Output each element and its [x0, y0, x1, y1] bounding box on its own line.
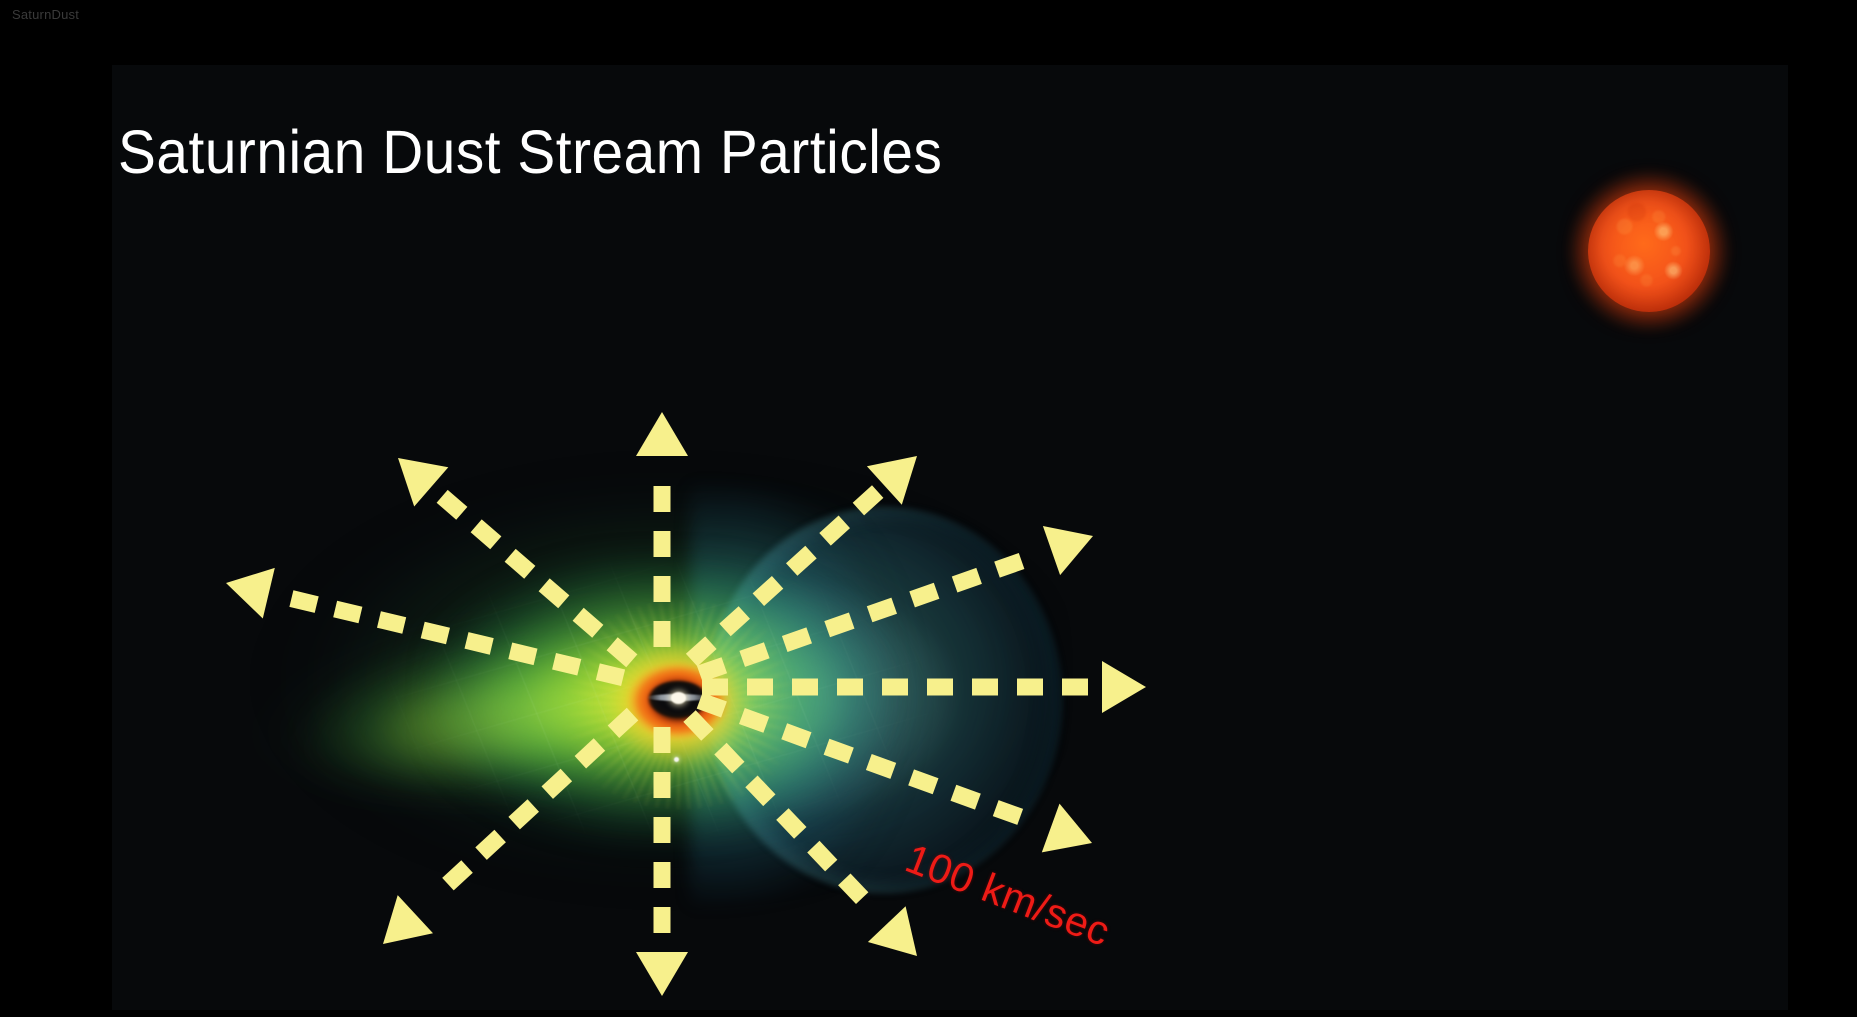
arrow-dash [654, 817, 671, 843]
arrow-dash [781, 723, 811, 748]
arrow-dash [951, 785, 981, 810]
arrow-dash [952, 568, 982, 593]
arrow-dash [654, 727, 671, 753]
arrow-dash [745, 776, 775, 807]
arrow-dash [824, 613, 854, 638]
arrow-dash [552, 653, 581, 676]
arrow-dash [786, 546, 817, 576]
arrow-dash [654, 576, 671, 602]
arrow-dash [837, 679, 863, 696]
arrow-head [636, 412, 688, 456]
arrow-dash [1017, 679, 1043, 696]
arrow-dash [442, 860, 473, 890]
arrow-dash [654, 772, 671, 798]
arrow-dash [508, 643, 537, 666]
arrow-head [636, 952, 688, 996]
arrow-dash [993, 800, 1023, 825]
arrow-dash [994, 553, 1024, 578]
arrow-down [636, 727, 688, 996]
arrow-dash [573, 608, 604, 638]
arrow-dash [539, 578, 570, 608]
arrow-dash [421, 622, 450, 645]
arrow-dash [782, 627, 812, 652]
arrow-head [868, 906, 917, 956]
arrow-head [1043, 526, 1093, 575]
arrow-dash [437, 490, 468, 520]
arrow-down-left [383, 708, 638, 944]
arrow-dash [333, 601, 362, 624]
arrow-dash [972, 679, 998, 696]
arrow-dash [697, 693, 727, 718]
arrow-dash [289, 590, 318, 613]
arrow-dash [719, 606, 750, 636]
arrow-dash [607, 637, 638, 667]
arrow-right-upper [697, 526, 1093, 682]
arrow-dash [475, 830, 506, 860]
arrow-dash [739, 708, 769, 733]
arrow-dash [909, 583, 939, 608]
arrow-right-lower [697, 693, 1092, 853]
arrow-dash [792, 679, 818, 696]
arrow-dash [702, 679, 728, 696]
arrow-dash [807, 841, 837, 872]
arrow-dash [596, 663, 625, 686]
arrow-dash [824, 739, 854, 764]
arrow-dash [575, 738, 606, 768]
arrow-dash [867, 598, 897, 623]
arrow-dash [866, 754, 896, 779]
arrow-dash [471, 519, 502, 549]
arrow-dash [654, 862, 671, 888]
arrow-dash [927, 679, 953, 696]
arrow-dash [542, 769, 573, 799]
arrow-dash [683, 710, 713, 741]
arrow-dash [654, 907, 671, 933]
arrow-head [383, 895, 433, 944]
arrow-dash [753, 576, 784, 606]
arrow-dash [654, 486, 671, 512]
arrow-dash [819, 516, 850, 546]
arrow-dash [739, 642, 769, 667]
arrow-left [226, 568, 625, 686]
arrow-dash [747, 679, 773, 696]
arrow-dash [654, 531, 671, 557]
arrow-dash [654, 621, 671, 647]
slide-canvas: SaturnDust Saturnian Dust Stream Particl… [0, 0, 1857, 1017]
arrow-head [226, 568, 275, 619]
arrow-dash [465, 632, 494, 655]
arrow-dash [853, 485, 884, 515]
arrow-head [1102, 661, 1146, 713]
arrow-dash [377, 611, 406, 634]
arrow-dash [776, 808, 806, 839]
arrow-dash [505, 549, 536, 579]
arrow-dash [1062, 679, 1088, 696]
arrow-dash [508, 799, 539, 829]
arrow-dash [882, 679, 908, 696]
arrow-dash [714, 743, 744, 774]
arrow-head [1042, 804, 1092, 853]
arrow-right [702, 661, 1146, 713]
arrow-down-right [683, 710, 917, 956]
arrow-dash [908, 769, 938, 794]
arrow-dash [608, 708, 639, 738]
arrow-up [636, 412, 688, 647]
arrow-dash [838, 874, 868, 905]
